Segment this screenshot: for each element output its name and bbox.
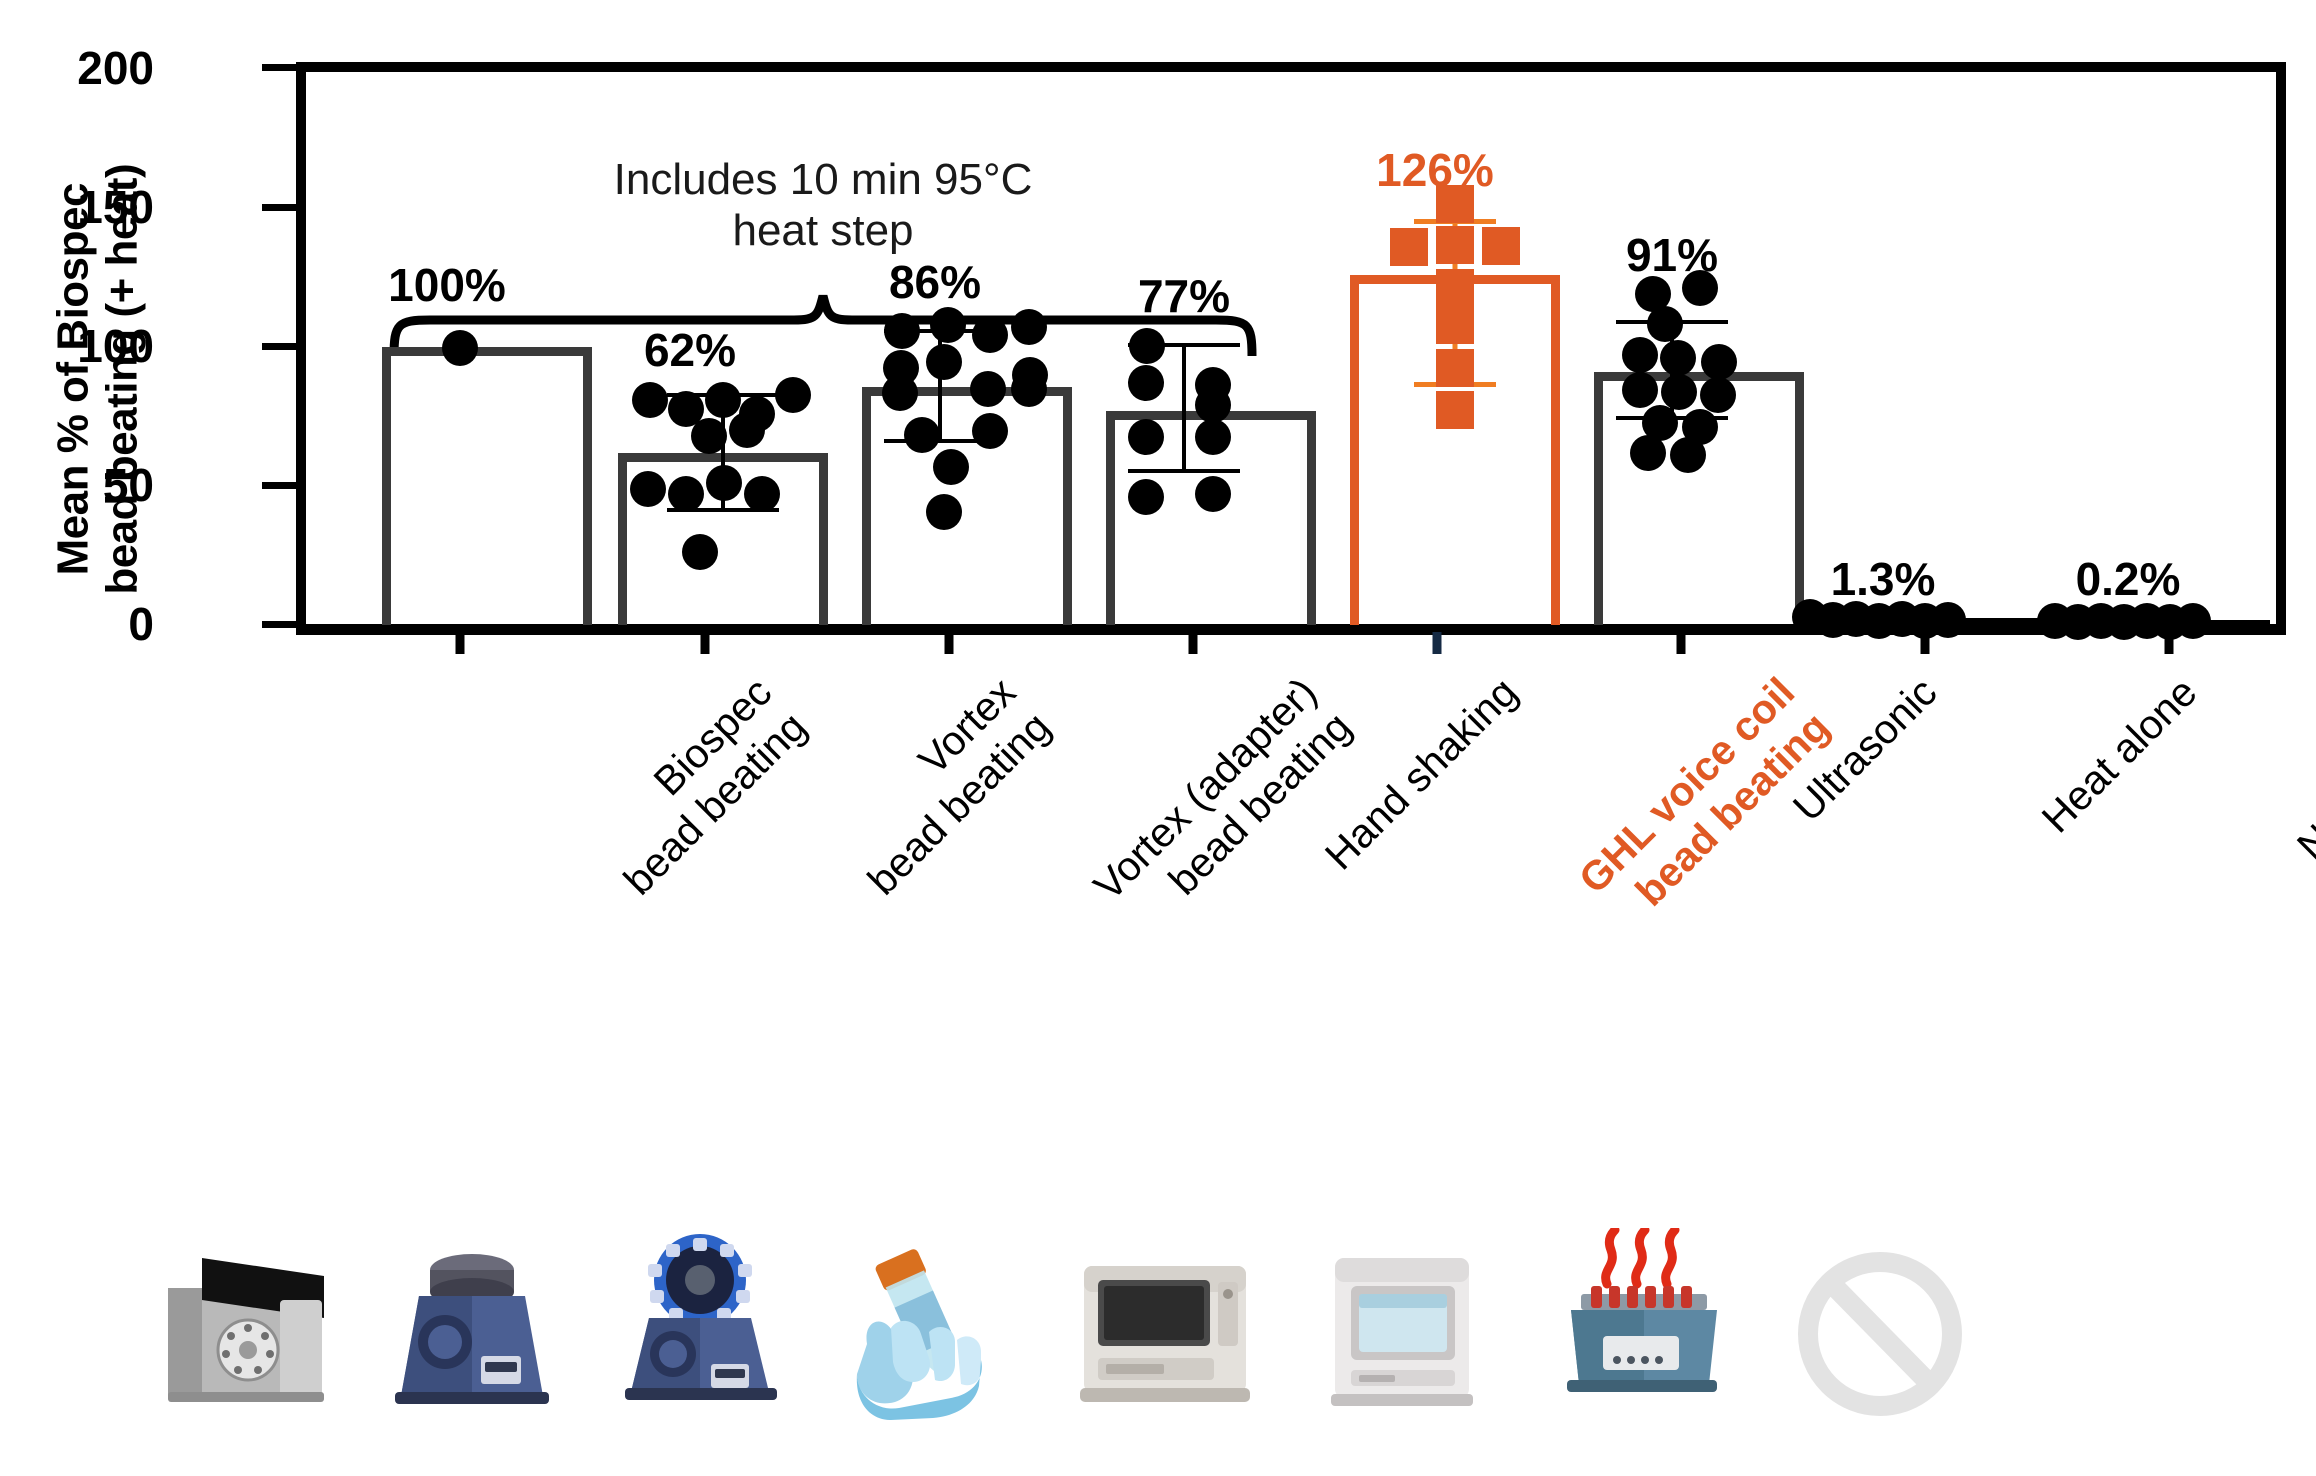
ultrasonic-device-icon: [1305, 1236, 1495, 1426]
data-point: [1436, 226, 1474, 264]
x-axis-label-vortex: Vortex bead beating: [823, 668, 1060, 905]
data-point: [706, 465, 742, 501]
x-tick-mark-no-treatment: [2165, 632, 2174, 654]
x-axis-label-heat-alone: Heat alone: [2032, 668, 2207, 843]
data-point: [632, 382, 668, 418]
data-point: [930, 307, 966, 343]
data-point: [1195, 387, 1231, 423]
heat-step-annotation: Includes 10 min 95°C heat step: [614, 155, 1033, 256]
data-point: [970, 371, 1006, 407]
data-point: [972, 413, 1008, 449]
bar-value-label-vortex-adapter: 86%: [889, 255, 981, 309]
data-point: [1700, 377, 1736, 413]
plot-frame-right: [2276, 62, 2286, 632]
data-point: [729, 412, 765, 448]
data-point: [705, 382, 741, 418]
x-tick-mark-ghl: [1433, 632, 1442, 654]
data-point: [1128, 419, 1164, 455]
biospec-bead-beater-icon: [150, 1240, 340, 1430]
data-point: [1630, 435, 1666, 471]
data-point: [2175, 603, 2211, 639]
data-point: [1660, 340, 1696, 376]
x-axis-label-hand-shaking-line1: Hand shaking: [1316, 669, 1526, 879]
x-axis-label-no-treatment-line1: No treatment: [2288, 669, 2316, 869]
bar-biospec-bead-beating[interactable]: [382, 347, 592, 625]
data-point: [1661, 374, 1697, 410]
data-point: [1128, 479, 1164, 515]
data-point: [1436, 391, 1474, 429]
data-point: [1195, 419, 1231, 455]
vortex-adapter-icon: [605, 1232, 795, 1422]
data-point: [1701, 344, 1737, 380]
bar-value-label-biospec: 100%: [388, 258, 506, 312]
bar-value-label-heat-alone: 1.3%: [1831, 552, 1936, 606]
error-bar-vertical: [1182, 345, 1186, 471]
data-point: [1436, 269, 1474, 307]
no-treatment-icon: [1785, 1236, 1975, 1426]
y-tick-label-50: 50: [14, 458, 154, 512]
heat-block-icon: [1545, 1228, 1735, 1418]
data-point: [1436, 306, 1474, 344]
data-point: [1128, 365, 1164, 401]
data-point: [1670, 437, 1706, 473]
data-point: [972, 317, 1008, 353]
data-point: [1482, 227, 1520, 265]
data-point: [744, 476, 780, 512]
heat-step-annotation-line1: Includes 10 min 95°C: [614, 155, 1033, 204]
data-point: [1129, 328, 1165, 364]
x-tick-mark-vortex-adapter: [945, 632, 954, 654]
ghl-voice-coil-device-icon: [1070, 1236, 1260, 1426]
bar-value-label-ghl: 126%: [1376, 143, 1494, 197]
figure-root: Mean % of Biospec bead beating (+ heat) …: [0, 0, 2316, 1476]
bar-value-label-no-treatment: 0.2%: [2076, 552, 2181, 606]
data-point: [1622, 372, 1658, 408]
data-point: [933, 449, 969, 485]
data-point: [442, 330, 478, 366]
y-tick-label-0: 0: [14, 597, 154, 651]
x-axis-line: [296, 624, 2286, 635]
y-tick-label-200: 200: [14, 41, 154, 95]
data-point: [691, 418, 727, 454]
data-point: [926, 494, 962, 530]
y-tick-label-150: 150: [14, 180, 154, 234]
data-point: [1647, 306, 1683, 342]
data-point: [668, 476, 704, 512]
plot-frame-top: [296, 62, 2286, 72]
gloved-hand-tube-icon: [833, 1236, 1023, 1426]
bar-value-label-vortex: 62%: [644, 323, 736, 377]
x-tick-mark-ultrasonic: [1677, 632, 1686, 654]
y-axis-label-line1: Mean % of Biospec: [49, 183, 98, 575]
heat-step-annotation-line2: heat step: [732, 206, 913, 255]
data-point: [1390, 228, 1428, 266]
data-point: [630, 471, 666, 507]
x-axis-label-no-treatment: No treatment: [2287, 668, 2316, 870]
data-point: [1436, 349, 1474, 387]
bar-value-label-hand-shaking: 77%: [1138, 269, 1230, 323]
data-point: [882, 375, 918, 411]
data-point: [904, 417, 940, 453]
data-point: [1682, 270, 1718, 306]
data-point: [926, 344, 962, 380]
x-tick-mark-vortex: [701, 632, 710, 654]
x-axis-label-vortex-adapter: Vortex (adapter) bead beating: [1084, 668, 1361, 945]
x-tick-mark-hand-shaking: [1189, 632, 1198, 654]
data-point: [1930, 602, 1966, 638]
data-point: [884, 313, 920, 349]
data-point: [682, 534, 718, 570]
data-point: [1622, 337, 1658, 373]
data-point: [1011, 371, 1047, 407]
plot-frame-left: [296, 62, 306, 632]
x-tick-mark-heat-alone: [1921, 632, 1930, 654]
x-tick-mark-biospec: [456, 632, 465, 654]
data-point: [775, 377, 811, 413]
x-axis-label-biospec: Biospec bead beating: [579, 668, 816, 905]
error-bar-cap-bottom: [1128, 469, 1240, 473]
data-point: [1195, 476, 1231, 512]
data-point: [1436, 185, 1474, 223]
x-axis-label-heat-alone-line1: Heat alone: [2033, 669, 2206, 842]
bar-vortex-adapter-bead-beating[interactable]: [862, 387, 1072, 625]
vortex-mixer-icon: [377, 1238, 567, 1428]
data-point: [1011, 309, 1047, 345]
x-axis-label-hand-shaking: Hand shaking: [1315, 668, 1527, 880]
equipment-icon-row: [0, 1150, 2316, 1450]
y-tick-label-100: 100: [14, 319, 154, 373]
